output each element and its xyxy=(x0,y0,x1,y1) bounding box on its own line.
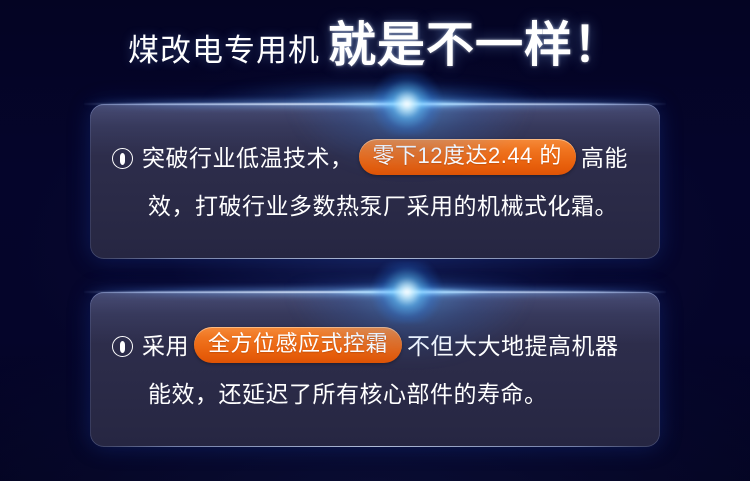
page-title: 煤改电专用机就是不一样！ xyxy=(0,22,750,70)
feature-card-1-line-2: 效，打破行业多数热泵厂采用的机械式化霜。 xyxy=(112,182,642,230)
feature-card-2: 采用全方位感应式控霜不但大大地提高机器 能效，还延迟了所有核心部件的寿命。 xyxy=(90,292,660,447)
promo-poster: 煤改电专用机就是不一样！ 突破行业低温技术，零下12度达2.44 的高能 效，打… xyxy=(0,0,750,481)
feature-card-1-text: 突破行业低温技术，零下12度达2.44 的高能 效，打破行业多数热泵厂采用的机械… xyxy=(112,134,642,230)
circled-diamond-icon xyxy=(112,336,133,357)
feature-card-2-highlight-pill: 全方位感应式控霜 xyxy=(194,327,402,363)
feature-card-1-line-1-before: 突破行业低温技术， xyxy=(142,145,354,171)
headline-main: 就是不一样！ xyxy=(328,19,622,72)
feature-card-1-highlight-pill: 零下12度达2.44 的 xyxy=(359,139,576,175)
headline-subtitle: 煤改电专用机 xyxy=(128,33,320,68)
feature-card-2-line-2: 能效，还延迟了所有核心部件的寿命。 xyxy=(112,370,642,418)
feature-card-1: 突破行业低温技术，零下12度达2.44 的高能 效，打破行业多数热泵厂采用的机械… xyxy=(90,104,660,259)
feature-card-2-line-1: 采用全方位感应式控霜不但大大地提高机器 xyxy=(112,322,642,370)
feature-card-1-line-1-after: 高能 xyxy=(581,145,628,171)
feature-card-2-text: 采用全方位感应式控霜不但大大地提高机器 能效，还延迟了所有核心部件的寿命。 xyxy=(112,322,642,418)
feature-card-1-line-1: 突破行业低温技术，零下12度达2.44 的高能 xyxy=(112,134,642,182)
feature-card-2-line-1-before: 采用 xyxy=(142,333,189,359)
feature-card-2-line-1-after: 不但大大地提高机器 xyxy=(407,333,619,359)
circled-diamond-icon xyxy=(112,148,133,169)
